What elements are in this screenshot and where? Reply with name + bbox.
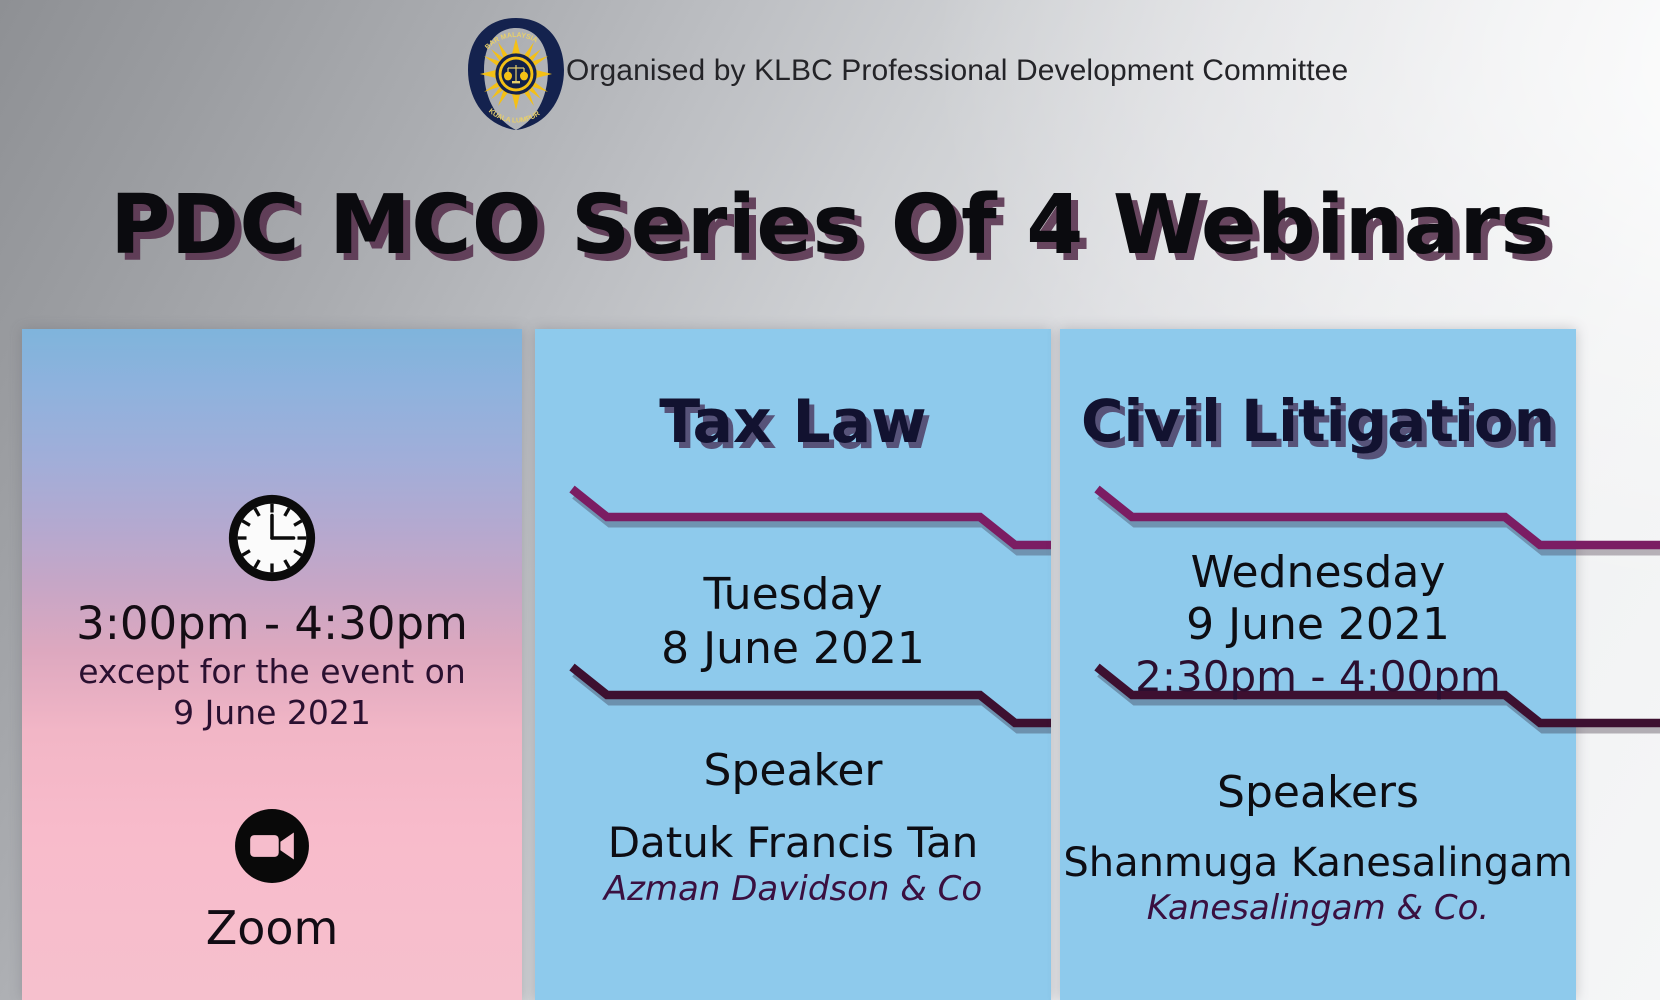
session-time: 2:30pm - 4:00pm: [1060, 651, 1576, 703]
speaker-firm: Kanesalingam & Co.: [1060, 888, 1576, 928]
zoom-camera-icon: [230, 804, 314, 888]
schedule-panel: 3:00pm - 4:30pm except for the event on …: [22, 329, 522, 1000]
time-exception-line-1: except for the event on: [22, 651, 522, 692]
stepped-divider-1-shadow: [575, 495, 1051, 551]
session-date: 9 June 2021: [1060, 599, 1576, 651]
header: BAR MALAYSIA: [0, 0, 1660, 150]
session-title: Civil Litigation: [1060, 387, 1576, 455]
poster-canvas: BAR MALAYSIA: [0, 0, 1660, 1000]
session-title: Tax Law: [535, 387, 1051, 457]
time-exception-note: except for the event on 9 June 2021: [22, 651, 522, 733]
session-day: Tuesday: [535, 568, 1051, 622]
session-date-block: Tuesday 8 June 2021: [535, 568, 1051, 676]
bar-malaysia-crest-icon: BAR MALAYSIA: [462, 14, 570, 134]
time-range-text: 3:00pm - 4:30pm: [22, 597, 522, 650]
speaker-firm: Azman Davidson & Co: [535, 869, 1051, 909]
organiser-text: Organised by KLBC Professional Developme…: [566, 54, 1348, 88]
time-exception-line-2: 9 June 2021: [22, 692, 522, 733]
speaker-name: Shanmuga Kanesalingam: [1060, 840, 1576, 886]
stepped-divider-1-shadow: [1100, 495, 1660, 551]
page-title: PDC MCO Series Of 4 Webinars: [0, 178, 1660, 273]
session-date-block: Wednesday 9 June 2021 2:30pm - 4:00pm: [1060, 547, 1576, 703]
speaker-name: Datuk Francis Tan: [535, 818, 1051, 867]
clock-icon-wrap: [22, 489, 522, 591]
session-date: 8 June 2021: [535, 622, 1051, 676]
session-card-tax-law: Tax Law Tuesday 8 June 2021 Speaker Datu…: [535, 329, 1051, 1000]
speakers-heading: Speaker: [535, 745, 1051, 796]
session-speakers-block: Speakers Shanmuga Kanesalingam Kanesalin…: [1060, 767, 1576, 928]
platform-label: Zoom: [22, 901, 522, 955]
session-speakers-block: Speaker Datuk Francis Tan Azman Davidson…: [535, 745, 1051, 909]
clock-icon: [223, 489, 321, 587]
stepped-divider-1: [572, 489, 1051, 545]
zoom-icon-wrap: [22, 804, 522, 892]
stepped-divider-2-shadow: [575, 673, 1051, 729]
speakers-heading: Speakers: [1060, 767, 1576, 818]
panel-row: 3:00pm - 4:30pm except for the event on …: [0, 329, 1660, 1000]
session-day: Wednesday: [1060, 547, 1576, 599]
session-card-civil-litigation: Civil Litigation Wednesday 9 June 2021 2…: [1060, 329, 1576, 1000]
stepped-divider-1: [1097, 489, 1660, 545]
